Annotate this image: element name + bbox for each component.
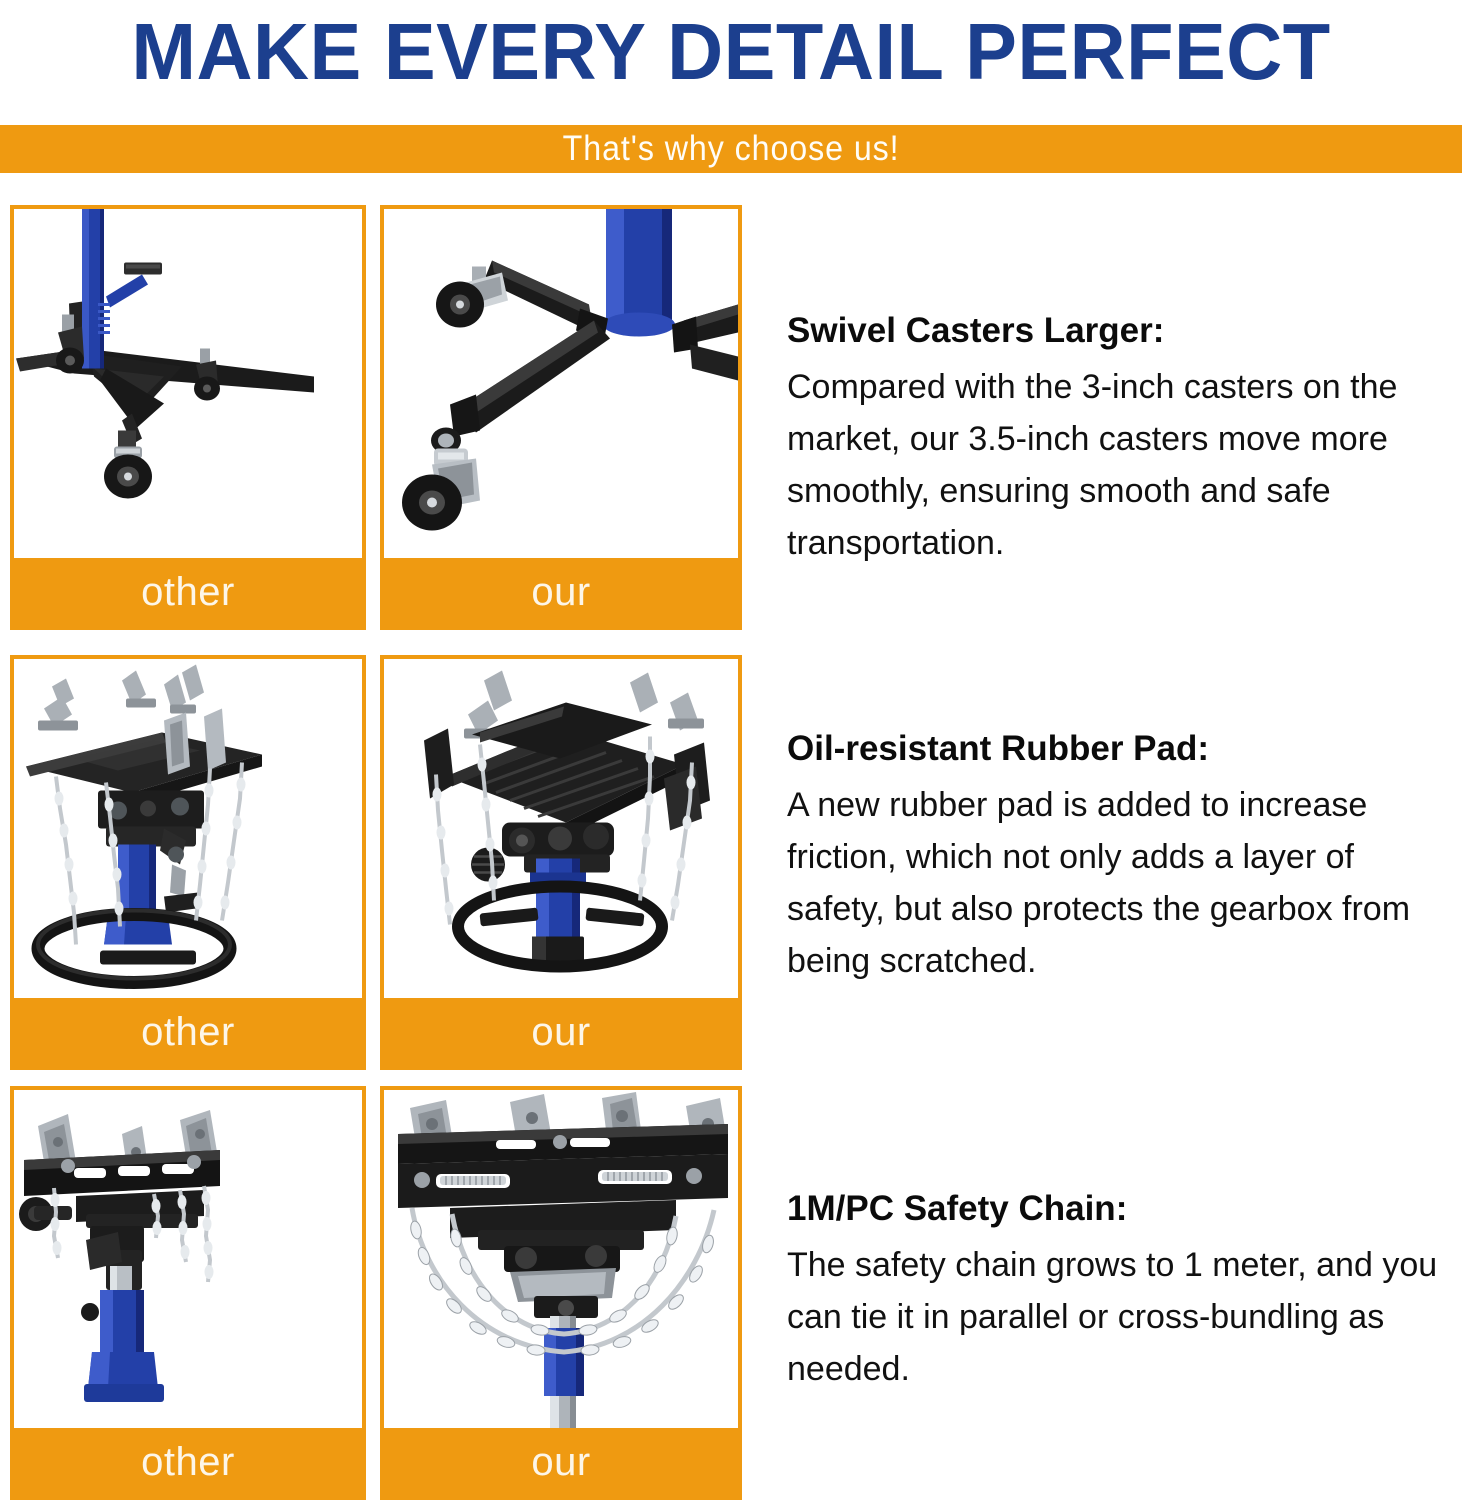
feature-body: A new rubber pad is added to increase fr… — [787, 779, 1447, 987]
other-caster-base-photo — [14, 209, 362, 558]
feature-block-swivel-casters: Swivel Casters Larger: Compared with the… — [787, 307, 1447, 569]
card-caption-other: other — [14, 998, 362, 1066]
feature-body: Compared with the 3-inch casters on the … — [787, 361, 1447, 569]
card-our-caster-base: our — [380, 205, 742, 630]
card-caption-our: our — [384, 1428, 738, 1496]
card-other-short-chain: other — [10, 1086, 366, 1500]
feature-block-safety-chain: 1M/PC Safety Chain: The safety chain gro… — [787, 1185, 1447, 1395]
feature-heading: Swivel Casters Larger: — [787, 307, 1447, 355]
other-saddle-table-photo — [14, 659, 362, 998]
card-caption-our: our — [384, 558, 738, 626]
feature-block-rubber-pad: Oil-resistant Rubber Pad: A new rubber p… — [787, 725, 1447, 987]
card-our-rubber-pad-table: our — [380, 655, 742, 1070]
card-caption-other: other — [14, 1428, 362, 1496]
card-other-saddle-table: other — [10, 655, 366, 1070]
our-caster-base-photo — [384, 209, 738, 558]
feature-heading: 1M/PC Safety Chain: — [787, 1185, 1447, 1233]
card-caption-other: other — [14, 558, 362, 626]
card-caption-our: our — [384, 998, 738, 1066]
our-rubber-pad-table-photo — [384, 659, 738, 998]
other-short-chain-photo — [14, 1090, 362, 1428]
card-other-caster-base: other — [10, 205, 366, 630]
card-our-1m-chain: our — [380, 1086, 742, 1500]
feature-body: The safety chain grows to 1 meter, and y… — [787, 1239, 1447, 1395]
our-1m-chain-photo — [384, 1090, 738, 1428]
feature-heading: Oil-resistant Rubber Pad: — [787, 725, 1447, 773]
